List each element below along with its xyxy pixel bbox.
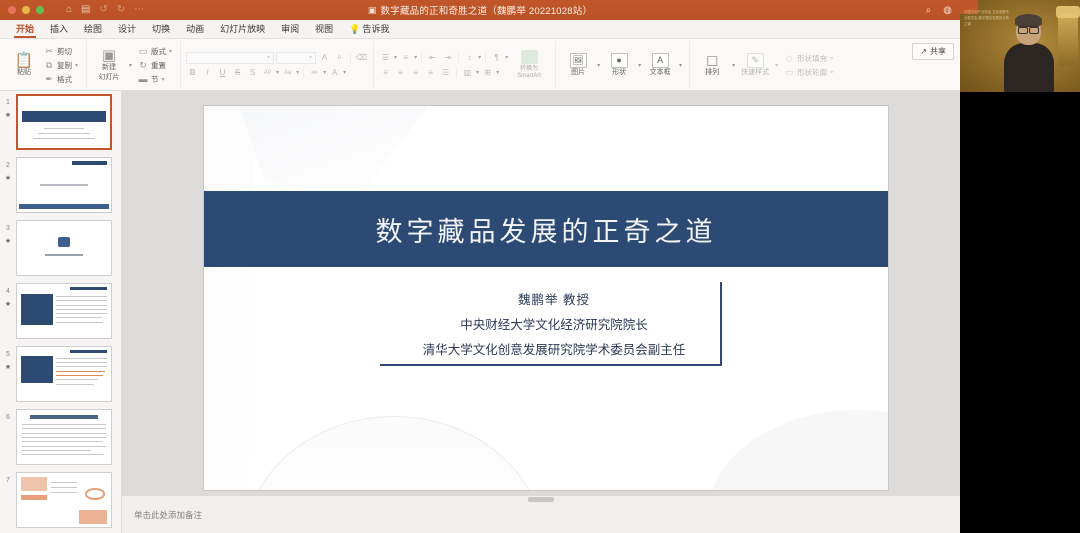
star-icon: ★ bbox=[0, 237, 16, 248]
ribbon-group-slides: ▣ 新建 幻灯片 ▾ ▭ 版式 ▾ ↻ 重置 ▬ bbox=[87, 41, 181, 89]
account-icon[interactable]: ◍ bbox=[943, 5, 952, 16]
shapes-chevron-down-icon[interactable]: ▾ bbox=[638, 62, 641, 69]
window-controls[interactable] bbox=[0, 6, 44, 14]
subtitle-rule-bottom bbox=[380, 364, 722, 366]
shape-outline-label: 形状轮廓 bbox=[797, 67, 827, 78]
picture-icon: 🖼 bbox=[570, 53, 587, 68]
thumbnail-preview[interactable] bbox=[16, 220, 112, 276]
new-slide-icon: ▣ bbox=[102, 48, 116, 63]
bold-button[interactable]: B bbox=[186, 67, 199, 79]
strikethrough-button[interactable]: S bbox=[231, 67, 244, 79]
thumbnail-number: 4 bbox=[6, 288, 10, 295]
shape-fill-button[interactable]: ◇ 形状填充 ▾ bbox=[781, 52, 836, 65]
divider bbox=[485, 52, 486, 63]
format-painter-label: 格式 bbox=[57, 74, 72, 85]
increase-indent-button[interactable]: ⇥ bbox=[441, 52, 454, 64]
copy-label: 复制 bbox=[57, 60, 72, 71]
share-label: 共享 bbox=[930, 46, 946, 57]
smartart-label-1: 转换为 bbox=[520, 66, 538, 73]
undo-icon[interactable]: ↺ bbox=[100, 5, 108, 15]
font-color-chevron-down-icon[interactable]: ▾ bbox=[343, 69, 346, 76]
thumbnail-number: 5 bbox=[6, 351, 10, 358]
paste-icon: 📋 bbox=[15, 53, 34, 68]
character-spacing-button[interactable]: AV bbox=[261, 67, 274, 79]
title-bar-actions[interactable]: ⌕ ◍ bbox=[926, 0, 952, 20]
tab-slideshow[interactable]: 幻灯片放映 bbox=[212, 20, 273, 38]
quick-styles-chevron-down-icon[interactable]: ▾ bbox=[775, 62, 778, 69]
tab-view[interactable]: 视图 bbox=[307, 20, 341, 38]
notes-pane[interactable]: 单击此处添加备注 bbox=[122, 495, 960, 533]
text-box-label: 文本框 bbox=[650, 69, 671, 77]
thumbnail-item[interactable]: 5 ★ bbox=[0, 346, 121, 402]
font-name-input[interactable]: ▾ bbox=[186, 52, 274, 64]
notes-placeholder[interactable]: 单击此处添加备注 bbox=[134, 509, 202, 521]
text-direction-button[interactable]: ¶ bbox=[490, 52, 503, 64]
columns-button[interactable]: ▥ bbox=[461, 67, 474, 79]
document-icon: ▣ bbox=[368, 5, 377, 16]
save-icon[interactable]: ▤ bbox=[81, 5, 90, 15]
thumbnail-number: 6 bbox=[6, 414, 10, 421]
star-icon: ★ bbox=[0, 174, 16, 185]
outline-icon: ▭ bbox=[784, 67, 794, 78]
arrange-chevron-down-icon[interactable]: ▾ bbox=[732, 62, 735, 69]
divider bbox=[350, 52, 351, 63]
lamp-shade-shape bbox=[1056, 6, 1080, 18]
layout-icon: ▭ bbox=[138, 46, 148, 57]
columns-chevron-down-icon[interactable]: ▾ bbox=[476, 69, 479, 76]
thumbnail-preview[interactable] bbox=[16, 346, 112, 402]
new-slide-label-1: 新建 bbox=[102, 64, 116, 72]
scissors-icon: ✂ bbox=[44, 46, 54, 57]
cut-label: 剪切 bbox=[57, 46, 72, 57]
lamp-shape bbox=[1058, 14, 1078, 66]
slide-decoration-curve-right bbox=[708, 410, 889, 491]
lightbulb-icon: 💡 bbox=[349, 24, 360, 34]
tab-design[interactable]: 设计 bbox=[110, 20, 144, 38]
case-chevron-down-icon[interactable]: ▾ bbox=[296, 69, 299, 76]
thumbnail-preview[interactable] bbox=[16, 283, 112, 339]
ribbon-group-drawing: ◻ 排列 ▾ ✎ 快速样式 ▾ ◇ 形状填充 ▾ ▭ bbox=[690, 41, 841, 89]
change-case-button[interactable]: Aa bbox=[281, 67, 294, 79]
share-icon: ↗ bbox=[920, 47, 927, 56]
font-size-input[interactable]: ▾ bbox=[276, 52, 316, 64]
picture-button[interactable]: 🖼 图片 bbox=[561, 53, 595, 77]
new-slide-chevron-down-icon[interactable]: ▾ bbox=[129, 62, 132, 69]
section-chevron-down-icon[interactable]: ▾ bbox=[162, 76, 165, 83]
align-center-button[interactable]: ≡ bbox=[394, 67, 407, 79]
speaker-video-feed[interactable]: 中国文化产业协会 文化金融专业委员会 数字藏品发展的正奇之道 bbox=[960, 0, 1080, 92]
line-spacing-chevron-down-icon[interactable]: ▾ bbox=[478, 54, 481, 61]
clear-formatting-icon[interactable]: ⌫ bbox=[355, 52, 368, 64]
thumbnail-meta: 5 ★ bbox=[0, 346, 16, 373]
smartart-icon bbox=[521, 50, 538, 64]
thumbnail-item[interactable]: 6 bbox=[0, 409, 121, 465]
tab-transitions[interactable]: 切换 bbox=[144, 20, 178, 38]
glasses-icon bbox=[1018, 26, 1039, 31]
new-slide-label-2: 幻灯片 bbox=[99, 74, 120, 82]
underline-button[interactable]: U bbox=[216, 67, 229, 79]
paste-button[interactable]: 📋 粘贴 bbox=[7, 53, 41, 77]
reset-icon: ↻ bbox=[138, 60, 148, 71]
tab-animations[interactable]: 动画 bbox=[178, 20, 212, 38]
format-painter-button[interactable]: ✒ 格式 bbox=[41, 73, 81, 86]
title-bar: ⌂ ▤ ↺ ↻ ⋯ ▣ 数字藏品的正和奇胜之道（魏鹏举 20221028站） ⌕… bbox=[0, 0, 960, 20]
numbering-chevron-down-icon[interactable]: ▾ bbox=[414, 54, 417, 61]
window-title: 数字藏品的正和奇胜之道（魏鹏举 20221028站） bbox=[381, 3, 593, 17]
divider bbox=[456, 67, 457, 78]
video-badge-label bbox=[960, 9, 962, 15]
thumbnail-preview[interactable] bbox=[16, 94, 112, 150]
shapes-icon: ● bbox=[611, 53, 628, 68]
notes-resize-handle[interactable] bbox=[528, 497, 554, 502]
speaker-hair bbox=[1015, 14, 1042, 26]
tab-draw[interactable]: 绘图 bbox=[76, 20, 110, 38]
minimize-button[interactable] bbox=[22, 6, 30, 14]
thumbnail-item[interactable]: 1 ★ bbox=[0, 94, 121, 150]
align-text-chevron-down-icon[interactable]: ▾ bbox=[496, 69, 499, 76]
ribbon: 📋 粘贴 ✂ 剪切 ⧉ 复制 ▾ ✒ 格式 bbox=[0, 39, 960, 91]
tab-home[interactable]: 开始 bbox=[8, 20, 42, 38]
thumbnail-meta: 2 ★ bbox=[0, 157, 16, 184]
justify-button[interactable]: ≡ bbox=[424, 67, 437, 79]
ribbon-group-insert: 🖼 图片 ▾ ● 形状 ▾ A 文本框 ▾ bbox=[556, 41, 690, 89]
bullets-chevron-down-icon[interactable]: ▾ bbox=[394, 54, 397, 61]
copy-button[interactable]: ⧉ 复制 ▾ bbox=[41, 59, 81, 72]
star-icon: ★ bbox=[0, 363, 16, 374]
arrange-button[interactable]: ◻ 排列 bbox=[695, 53, 729, 77]
shapes-label: 形状 bbox=[612, 69, 626, 77]
distribute-button[interactable]: ☰ bbox=[439, 67, 452, 79]
tab-insert[interactable]: 插入 bbox=[42, 20, 76, 38]
tab-review[interactable]: 审阅 bbox=[273, 20, 307, 38]
numbering-button[interactable]: ≡ bbox=[399, 52, 412, 64]
slide-thumbnail-pane[interactable]: 1 ★ 2 ★ bbox=[0, 91, 122, 533]
slide-decoration-left bbox=[203, 106, 254, 490]
thumbnail-item[interactable]: 2 ★ bbox=[0, 157, 121, 213]
font-name-chevron-down-icon[interactable]: ▾ bbox=[267, 54, 270, 61]
fill-bucket-icon: ◇ bbox=[784, 53, 794, 64]
slides-commands: ▭ 版式 ▾ ↻ 重置 ▬ 节 ▾ bbox=[135, 45, 175, 86]
paste-label: 粘贴 bbox=[17, 69, 31, 77]
workspace: 1 ★ 2 ★ bbox=[0, 91, 960, 533]
subtitle-line-2: 中央财经大学文化经济研究院院长 bbox=[380, 313, 728, 338]
highlight-chevron-down-icon[interactable]: ▾ bbox=[323, 69, 326, 76]
quick-styles-button[interactable]: ✎ 快速样式 bbox=[738, 53, 772, 77]
cut-button[interactable]: ✂ 剪切 bbox=[41, 45, 81, 58]
thumbnail-number: 1 bbox=[6, 99, 10, 106]
brush-icon: ✒ bbox=[44, 74, 54, 85]
star-icon: ★ bbox=[0, 111, 16, 122]
reset-label: 重置 bbox=[151, 60, 166, 71]
shape-outline-button[interactable]: ▭ 形状轮廓 ▾ bbox=[781, 66, 836, 79]
home-icon[interactable]: ⌂ bbox=[66, 5, 72, 15]
section-icon: ▬ bbox=[138, 74, 148, 84]
quick-styles-label: 快速样式 bbox=[741, 69, 769, 77]
align-left-button[interactable]: ≡ bbox=[379, 67, 392, 79]
ribbon-group-clipboard: 📋 粘贴 ✂ 剪切 ⧉ 复制 ▾ ✒ 格式 bbox=[2, 41, 87, 89]
text-highlight-icon[interactable]: ✏ bbox=[308, 67, 321, 79]
thumbnail-preview[interactable] bbox=[16, 409, 112, 465]
slide-title[interactable]: 数字藏品发展的正奇之道 bbox=[376, 210, 717, 249]
maximize-button[interactable] bbox=[36, 6, 44, 14]
thumbnail-item[interactable]: 4 ★ bbox=[0, 283, 121, 339]
slide-title-band: 数字藏品发展的正奇之道 bbox=[204, 191, 888, 267]
thumbnail-meta: 7 bbox=[0, 472, 16, 489]
quick-styles-icon: ✎ bbox=[747, 53, 764, 68]
italic-button[interactable]: I bbox=[201, 67, 214, 79]
thumbnail-meta: 3 ★ bbox=[0, 220, 16, 247]
text-shadow-button[interactable]: S bbox=[246, 67, 259, 79]
ribbon-group-font: ▾ ▾ A A ⌫ B I U bbox=[181, 41, 374, 89]
divider bbox=[303, 67, 304, 78]
shape-fill-label: 形状填充 bbox=[797, 53, 827, 64]
slide-edit-area[interactable]: 数字藏品发展的正奇之道 魏鹏举 教授 中央财经大学文化经济研究院院长 清华大学文… bbox=[122, 91, 960, 533]
chevron-down-icon[interactable]: ▾ bbox=[75, 62, 78, 69]
convert-to-smartart-button[interactable]: 转换为 SmartArt bbox=[508, 50, 550, 80]
star-icon: ★ bbox=[0, 300, 16, 311]
arrange-label: 排列 bbox=[705, 69, 719, 77]
divider bbox=[421, 52, 422, 63]
align-right-button[interactable]: ≡ bbox=[409, 67, 422, 79]
thumbnail-item[interactable]: 3 ★ bbox=[0, 220, 121, 276]
copy-icon: ⧉ bbox=[44, 60, 54, 71]
screen: ⌂ ▤ ↺ ↻ ⋯ ▣ 数字藏品的正和奇胜之道（魏鹏举 20221028站） ⌕… bbox=[0, 0, 1080, 533]
section-button[interactable]: ▬ 节 ▾ bbox=[135, 73, 175, 86]
video-overlay-text: 中国文化产业协会 文化金融专业委员会 数字藏品发展的正奇之道 bbox=[964, 10, 1010, 27]
tab-tell-me-label: 告诉我 bbox=[362, 24, 389, 34]
close-button[interactable] bbox=[8, 6, 16, 14]
powerpoint-window: ⌂ ▤ ↺ ↻ ⋯ ▣ 数字藏品的正和奇胜之道（魏鹏举 20221028站） ⌕… bbox=[0, 0, 960, 533]
quick-access-toolbar[interactable]: ⌂ ▤ ↺ ↻ ⋯ bbox=[66, 5, 144, 15]
ribbon-group-paragraph: ☰ ▾ ≡ ▾ ⇤ ⇥ ↕ ▾ ¶ ▾ bbox=[374, 41, 556, 89]
speaker-body bbox=[1004, 43, 1054, 92]
thumbnail-number: 7 bbox=[6, 477, 10, 484]
shapes-button[interactable]: ● 形状 bbox=[602, 53, 636, 77]
shape-format-commands: ◇ 形状填充 ▾ ▭ 形状轮廓 ▾ bbox=[781, 52, 836, 79]
smartart-label-2: SmartArt bbox=[517, 73, 541, 80]
more-icon[interactable]: ⋯ bbox=[134, 5, 144, 15]
font-size-chevron-down-icon[interactable]: ▾ bbox=[309, 54, 312, 61]
new-slide-button[interactable]: ▣ 新建 幻灯片 bbox=[92, 48, 126, 81]
align-text-button[interactable]: ⊞ bbox=[481, 67, 494, 79]
subtitle-line-1: 魏鹏举 教授 bbox=[380, 288, 728, 313]
increase-font-size-button[interactable]: A bbox=[318, 52, 331, 64]
search-icon[interactable]: ⌕ bbox=[926, 5, 932, 16]
line-spacing-button[interactable]: ↕ bbox=[463, 52, 476, 64]
text-box-icon: A bbox=[652, 53, 669, 68]
layout-chevron-down-icon[interactable]: ▾ bbox=[169, 48, 172, 55]
spacing-chevron-down-icon[interactable]: ▾ bbox=[276, 69, 279, 76]
picture-chevron-down-icon[interactable]: ▾ bbox=[597, 62, 600, 69]
bullets-button[interactable]: ☰ bbox=[379, 52, 392, 64]
video-panel[interactable]: 中国文化产业协会 文化金融专业委员会 数字藏品发展的正奇之道 bbox=[960, 0, 1080, 533]
slide-decoration-curve-left bbox=[244, 416, 544, 491]
ribbon-tab-bar[interactable]: 开始 插入 绘图 设计 切换 动画 幻灯片放映 审阅 视图 💡告诉我 bbox=[0, 20, 960, 39]
decrease-indent-button[interactable]: ⇤ bbox=[426, 52, 439, 64]
thumbnail-number: 3 bbox=[6, 225, 10, 232]
subtitle-rule-right bbox=[720, 282, 722, 366]
thumbnail-meta: 4 ★ bbox=[0, 283, 16, 310]
tab-tell-me[interactable]: 💡告诉我 bbox=[341, 20, 397, 38]
shape-outline-chevron-down-icon[interactable]: ▾ bbox=[830, 69, 833, 76]
thumbnail-number: 2 bbox=[6, 162, 10, 169]
slide-subtitle[interactable]: 魏鹏举 教授 中央财经大学文化经济研究院院长 清华大学文化创意发展研究院学术委员… bbox=[380, 288, 728, 363]
text-box-chevron-down-icon[interactable]: ▾ bbox=[679, 62, 682, 69]
current-slide[interactable]: 数字藏品发展的正奇之道 魏鹏举 教授 中央财经大学文化经济研究院院长 清华大学文… bbox=[203, 105, 889, 491]
divider bbox=[458, 52, 459, 63]
thumbnail-meta: 6 bbox=[0, 409, 16, 426]
picture-label: 图片 bbox=[571, 69, 585, 77]
thumbnail-preview[interactable] bbox=[16, 472, 112, 528]
font-color-button[interactable]: A bbox=[328, 67, 341, 79]
clipboard-commands: ✂ 剪切 ⧉ 复制 ▾ ✒ 格式 bbox=[41, 45, 81, 86]
text-box-button[interactable]: A 文本框 bbox=[643, 53, 677, 77]
share-button[interactable]: ↗ 共享 bbox=[912, 43, 954, 60]
layout-button[interactable]: ▭ 版式 ▾ bbox=[135, 45, 175, 58]
thumbnail-item[interactable]: 7 bbox=[0, 472, 121, 528]
arrange-icon: ◻ bbox=[706, 53, 718, 68]
thumbnail-meta: 1 ★ bbox=[0, 94, 16, 121]
section-label: 节 bbox=[151, 74, 159, 85]
thumbnail-preview[interactable] bbox=[16, 157, 112, 213]
shape-fill-chevron-down-icon[interactable]: ▾ bbox=[830, 55, 833, 62]
reset-button[interactable]: ↻ 重置 bbox=[135, 59, 175, 72]
layout-label: 版式 bbox=[151, 46, 166, 57]
decrease-font-size-button[interactable]: A bbox=[333, 52, 346, 64]
redo-icon[interactable]: ↻ bbox=[117, 5, 125, 15]
subtitle-line-3: 清华大学文化创意发展研究院学术委员会副主任 bbox=[380, 338, 728, 363]
